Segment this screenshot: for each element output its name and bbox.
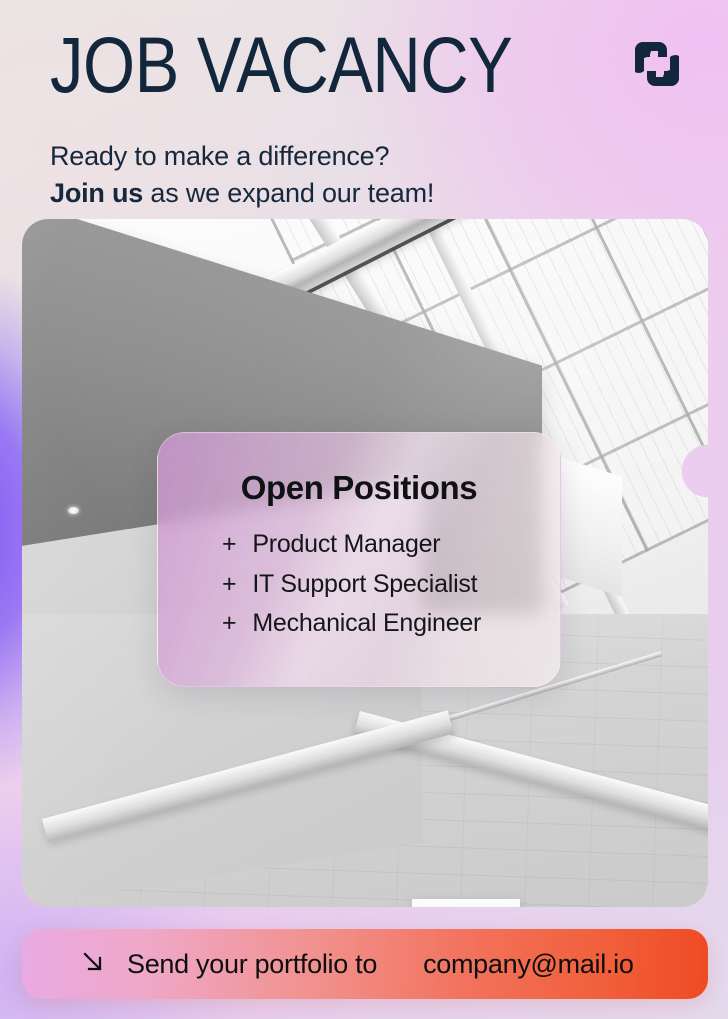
poster-header: JOB VACANCY Ready to make a difference? … <box>0 0 728 210</box>
plus-icon: + <box>222 604 236 644</box>
interlocking-s-logo-icon <box>632 38 682 95</box>
position-label: Mechanical Engineer <box>252 604 481 644</box>
subheadline-line-1: Ready to make a difference? <box>50 138 692 175</box>
contact-email-link[interactable]: company@mail.io <box>423 949 634 980</box>
page-title: JOB VACANCY <box>50 26 512 105</box>
plus-icon: + <box>222 525 236 565</box>
title-row: JOB VACANCY <box>50 26 692 95</box>
join-us-emphasis: Join us <box>50 178 143 208</box>
open-positions-title: Open Positions <box>158 471 560 504</box>
list-item[interactable]: + Mechanical Engineer <box>222 604 560 644</box>
cta-label: Send your portfolio to <box>127 949 377 980</box>
position-label: IT Support Specialist <box>252 565 477 605</box>
arrow-down-right-icon <box>78 947 108 982</box>
subheadline-line-2-rest: as we expand our team! <box>143 178 434 208</box>
open-positions-card: Open Positions + Product Manager + IT Su… <box>157 432 561 687</box>
send-portfolio-cta[interactable]: Send your portfolio to company@mail.io <box>22 929 708 999</box>
position-label: Product Manager <box>252 525 440 565</box>
job-vacancy-poster: JOB VACANCY Ready to make a difference? … <box>0 0 728 1019</box>
open-positions-list: + Product Manager + IT Support Specialis… <box>158 525 560 644</box>
list-item[interactable]: + IT Support Specialist <box>222 565 560 605</box>
subheadline-line-2: Join us as we expand our team! <box>50 175 692 212</box>
plus-icon: + <box>222 565 236 605</box>
subheadline: Ready to make a difference? Join us as w… <box>50 138 692 213</box>
list-item[interactable]: + Product Manager <box>222 525 560 565</box>
